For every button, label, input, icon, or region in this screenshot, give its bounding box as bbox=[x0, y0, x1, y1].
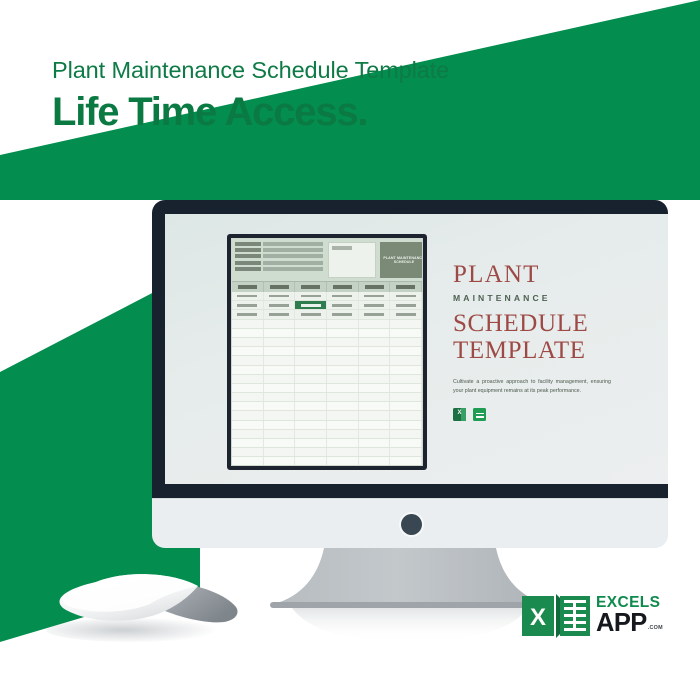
table-cell[interactable] bbox=[359, 329, 391, 337]
table-cell[interactable] bbox=[232, 329, 264, 337]
table-cell[interactable] bbox=[327, 301, 359, 309]
table-cell[interactable] bbox=[390, 329, 422, 337]
monitor-chin bbox=[152, 498, 668, 548]
table-cell[interactable] bbox=[232, 393, 264, 401]
table-cell[interactable] bbox=[390, 338, 422, 346]
table-row[interactable] bbox=[232, 384, 422, 393]
poster-canvas: Plant Maintenance Schedule Template Life… bbox=[0, 0, 700, 700]
table-cell[interactable] bbox=[359, 421, 391, 429]
table-row[interactable] bbox=[232, 320, 422, 329]
table-cell-highlighted[interactable] bbox=[295, 301, 327, 309]
table-cell[interactable] bbox=[327, 411, 359, 419]
table-cell[interactable] bbox=[359, 384, 391, 392]
table-cell[interactable] bbox=[327, 402, 359, 410]
table-cell[interactable] bbox=[232, 411, 264, 419]
table-cell[interactable] bbox=[264, 375, 296, 383]
table-row[interactable] bbox=[232, 402, 422, 411]
table-row[interactable] bbox=[232, 411, 422, 420]
table-cell[interactable] bbox=[232, 310, 264, 318]
table-cell[interactable] bbox=[264, 421, 296, 429]
table-cell[interactable] bbox=[264, 448, 296, 456]
table-cell[interactable] bbox=[359, 366, 391, 374]
table-cell[interactable] bbox=[327, 430, 359, 438]
table-cell[interactable] bbox=[327, 384, 359, 392]
screen-content: PLANT MAINTENANCE SCHEDULE bbox=[165, 214, 668, 484]
table-row[interactable] bbox=[232, 457, 422, 466]
table-cell[interactable] bbox=[264, 439, 296, 447]
table-cell[interactable] bbox=[264, 347, 296, 355]
table-cell[interactable] bbox=[264, 338, 296, 346]
brand-word-dotcom: .COM bbox=[648, 626, 663, 631]
spreadsheet-rows[interactable] bbox=[232, 292, 422, 466]
table-row[interactable] bbox=[232, 375, 422, 384]
table-cell[interactable] bbox=[359, 301, 391, 309]
brand-logo[interactable]: X EXCELS APP .COM bbox=[520, 592, 678, 644]
table-cell[interactable] bbox=[232, 430, 264, 438]
table-cell[interactable] bbox=[295, 393, 327, 401]
excel-logo-letter: X bbox=[530, 604, 546, 631]
computer-mouse-svg bbox=[40, 560, 245, 645]
table-cell[interactable] bbox=[327, 329, 359, 337]
table-cell[interactable] bbox=[327, 356, 359, 364]
table-cell[interactable] bbox=[390, 301, 422, 309]
spreadsheet-header-band: PLANT MAINTENANCE SCHEDULE bbox=[232, 239, 422, 281]
table-row[interactable] bbox=[232, 439, 422, 448]
table-cell[interactable] bbox=[327, 310, 359, 318]
table-cell[interactable] bbox=[232, 439, 264, 447]
column-header bbox=[264, 282, 296, 292]
brand-wordmark: EXCELS APP .COM bbox=[596, 595, 663, 634]
table-cell[interactable] bbox=[264, 301, 296, 309]
table-cell[interactable] bbox=[359, 457, 391, 465]
table-cell[interactable] bbox=[359, 320, 391, 328]
table-cell[interactable] bbox=[295, 366, 327, 374]
column-header bbox=[232, 282, 264, 292]
table-cell[interactable] bbox=[327, 320, 359, 328]
table-cell[interactable] bbox=[232, 421, 264, 429]
table-cell[interactable] bbox=[295, 457, 327, 465]
promo-line-plant: PLANT bbox=[453, 262, 633, 287]
spreadsheet-note-box bbox=[328, 242, 376, 278]
computer-mouse[interactable] bbox=[40, 560, 245, 645]
table-cell[interactable] bbox=[264, 292, 296, 300]
table-cell[interactable] bbox=[327, 366, 359, 374]
table-cell[interactable] bbox=[359, 402, 391, 410]
table-cell[interactable] bbox=[359, 448, 391, 456]
excel-logo-mark-svg: X bbox=[520, 592, 594, 640]
table-cell[interactable] bbox=[232, 375, 264, 383]
spreadsheet-title-banner: PLANT MAINTENANCE SCHEDULE bbox=[380, 242, 423, 278]
table-cell[interactable] bbox=[390, 402, 422, 410]
headline-block: Plant Maintenance Schedule Template Life… bbox=[52, 58, 612, 135]
table-cell[interactable] bbox=[359, 356, 391, 364]
table-cell[interactable] bbox=[295, 292, 327, 300]
table-cell[interactable] bbox=[264, 329, 296, 337]
table-cell[interactable] bbox=[264, 457, 296, 465]
promo-panel: PLANT MAINTENANCE SCHEDULE TEMPLATE Cult… bbox=[453, 262, 633, 421]
excel-logo-mark: X bbox=[520, 592, 594, 640]
monitor-screen: PLANT MAINTENANCE SCHEDULE bbox=[165, 214, 668, 484]
excel-icon[interactable]: X bbox=[453, 408, 466, 421]
table-cell[interactable] bbox=[390, 457, 422, 465]
table-cell[interactable] bbox=[390, 430, 422, 438]
headline-subtitle: Plant Maintenance Schedule Template bbox=[52, 58, 612, 84]
table-cell[interactable] bbox=[232, 347, 264, 355]
table-row[interactable] bbox=[232, 430, 422, 439]
table-cell[interactable] bbox=[327, 439, 359, 447]
table-cell[interactable] bbox=[390, 384, 422, 392]
promo-line-template: TEMPLATE bbox=[453, 337, 633, 364]
column-header bbox=[295, 282, 327, 292]
table-cell[interactable] bbox=[295, 320, 327, 328]
table-row[interactable] bbox=[232, 393, 422, 402]
table-cell[interactable] bbox=[295, 430, 327, 438]
table-cell[interactable] bbox=[359, 338, 391, 346]
table-cell[interactable] bbox=[359, 292, 391, 300]
monitor-stand bbox=[262, 548, 558, 646]
google-sheets-icon[interactable] bbox=[473, 408, 486, 421]
table-row[interactable] bbox=[232, 347, 422, 356]
table-cell[interactable] bbox=[359, 347, 391, 355]
promo-line-maintenance: MAINTENANCE bbox=[453, 293, 633, 303]
column-header bbox=[327, 282, 359, 292]
excel-icon-letter: X bbox=[453, 410, 466, 416]
promo-line-schedule: SCHEDULE bbox=[453, 310, 633, 337]
table-cell[interactable] bbox=[327, 457, 359, 465]
table-cell[interactable] bbox=[264, 430, 296, 438]
table-row[interactable] bbox=[232, 448, 422, 457]
table-cell[interactable] bbox=[390, 393, 422, 401]
table-cell[interactable] bbox=[264, 356, 296, 364]
headline-title: Life Time Access. bbox=[52, 89, 612, 135]
table-cell[interactable] bbox=[390, 356, 422, 364]
table-cell[interactable] bbox=[390, 448, 422, 456]
table-cell[interactable] bbox=[359, 439, 391, 447]
brand-word-app: APP bbox=[596, 612, 647, 635]
table-row[interactable] bbox=[232, 338, 422, 347]
table-cell[interactable] bbox=[327, 448, 359, 456]
table-cell[interactable] bbox=[359, 375, 391, 383]
spreadsheet-banner-label: PLANT MAINTENANCE SCHEDULE bbox=[380, 256, 423, 265]
table-row[interactable] bbox=[232, 310, 422, 319]
table-cell[interactable] bbox=[390, 366, 422, 374]
table-row[interactable] bbox=[232, 356, 422, 365]
table-cell[interactable] bbox=[390, 320, 422, 328]
table-cell[interactable] bbox=[264, 393, 296, 401]
monitor-bezel: PLANT MAINTENANCE SCHEDULE bbox=[152, 200, 668, 498]
table-cell[interactable] bbox=[232, 366, 264, 374]
table-cell[interactable] bbox=[295, 329, 327, 337]
table-cell[interactable] bbox=[390, 411, 422, 419]
table-cell[interactable] bbox=[390, 421, 422, 429]
table-cell[interactable] bbox=[359, 430, 391, 438]
table-cell[interactable] bbox=[295, 347, 327, 355]
table-cell[interactable] bbox=[264, 384, 296, 392]
table-cell[interactable] bbox=[327, 393, 359, 401]
promo-app-icons: X bbox=[453, 408, 633, 421]
table-cell[interactable] bbox=[232, 384, 264, 392]
table-cell[interactable] bbox=[295, 448, 327, 456]
table-row[interactable] bbox=[232, 301, 422, 310]
table-cell[interactable] bbox=[295, 375, 327, 383]
table-cell[interactable] bbox=[232, 301, 264, 309]
column-header bbox=[359, 282, 391, 292]
table-cell[interactable] bbox=[264, 411, 296, 419]
table-cell[interactable] bbox=[390, 292, 422, 300]
table-cell[interactable] bbox=[327, 421, 359, 429]
table-cell[interactable] bbox=[264, 402, 296, 410]
table-cell[interactable] bbox=[264, 366, 296, 374]
table-cell[interactable] bbox=[390, 439, 422, 447]
table-cell[interactable] bbox=[359, 310, 391, 318]
table-cell[interactable] bbox=[264, 320, 296, 328]
table-row[interactable] bbox=[232, 292, 422, 301]
table-cell[interactable] bbox=[232, 320, 264, 328]
table-row[interactable] bbox=[232, 421, 422, 430]
column-header bbox=[390, 282, 422, 292]
table-cell[interactable] bbox=[232, 457, 264, 465]
table-cell[interactable] bbox=[390, 347, 422, 355]
table-cell[interactable] bbox=[264, 310, 296, 318]
table-cell[interactable] bbox=[295, 402, 327, 410]
table-cell[interactable] bbox=[232, 402, 264, 410]
table-cell[interactable] bbox=[327, 338, 359, 346]
table-cell[interactable] bbox=[327, 375, 359, 383]
spreadsheet-meta-fields bbox=[235, 242, 323, 273]
table-cell[interactable] bbox=[232, 338, 264, 346]
spreadsheet-document[interactable]: PLANT MAINTENANCE SCHEDULE bbox=[227, 234, 427, 470]
table-cell[interactable] bbox=[232, 356, 264, 364]
table-cell[interactable] bbox=[295, 411, 327, 419]
table-cell[interactable] bbox=[327, 347, 359, 355]
table-row[interactable] bbox=[232, 329, 422, 338]
monitor-stand-svg bbox=[262, 548, 558, 646]
table-row[interactable] bbox=[232, 366, 422, 375]
table-cell[interactable] bbox=[232, 448, 264, 456]
monitor-mockup: PLANT MAINTENANCE SCHEDULE bbox=[152, 200, 668, 548]
table-cell[interactable] bbox=[232, 292, 264, 300]
table-cell[interactable] bbox=[327, 292, 359, 300]
table-cell[interactable] bbox=[359, 393, 391, 401]
table-cell[interactable] bbox=[390, 310, 422, 318]
table-cell[interactable] bbox=[295, 310, 327, 318]
table-cell[interactable] bbox=[295, 439, 327, 447]
monitor-home-button[interactable] bbox=[401, 514, 422, 535]
spreadsheet-page: PLANT MAINTENANCE SCHEDULE bbox=[231, 238, 423, 466]
table-cell[interactable] bbox=[295, 384, 327, 392]
promo-description: Cultivate a proactive approach to facili… bbox=[453, 378, 611, 397]
table-cell[interactable] bbox=[295, 421, 327, 429]
table-cell[interactable] bbox=[295, 338, 327, 346]
spreadsheet-column-headers bbox=[232, 281, 422, 292]
table-cell[interactable] bbox=[359, 411, 391, 419]
table-cell[interactable] bbox=[390, 375, 422, 383]
table-cell[interactable] bbox=[295, 356, 327, 364]
